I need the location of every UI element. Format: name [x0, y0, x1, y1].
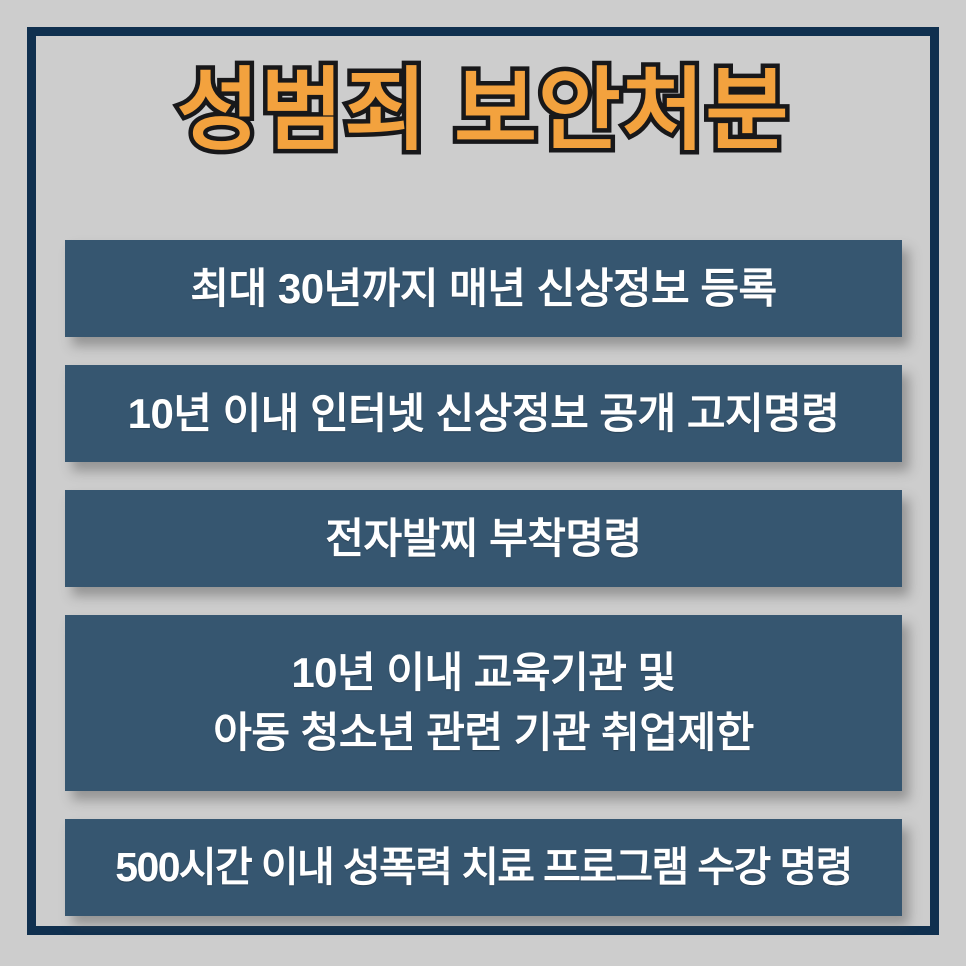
- measure-bar-5-label: 500시간 이내 성폭력 치료 프로그램 수강 명령: [109, 841, 857, 893]
- measure-bar-2: 10년 이내 인터넷 신상정보 공개 고지명령: [65, 365, 902, 462]
- measures-list: 최대 30년까지 매년 신상정보 등록 10년 이내 인터넷 신상정보 공개 고…: [65, 240, 902, 916]
- measure-bar-3-label: 전자발찌 부착명령: [311, 512, 655, 566]
- poster-canvas: 성범죄 보안처분 최대 30년까지 매년 신상정보 등록 10년 이내 인터넷 …: [0, 0, 966, 966]
- measure-bar-5: 500시간 이내 성폭력 치료 프로그램 수강 명령: [65, 819, 902, 916]
- measure-bar-4: 10년 이내 교육기관 및 아동 청소년 관련 기관 취업제한: [65, 615, 902, 791]
- measure-bar-2-label: 10년 이내 인터넷 신상정보 공개 고지명령: [114, 387, 854, 441]
- measure-bar-1: 최대 30년까지 매년 신상정보 등록: [65, 240, 902, 337]
- page-title: 성범죄 보안처분: [0, 64, 966, 159]
- measure-bar-1-label: 최대 30년까지 매년 신상정보 등록: [176, 262, 790, 316]
- page-title-text: 성범죄 보안처분: [177, 64, 790, 159]
- measure-bar-3: 전자발찌 부착명령: [65, 490, 902, 587]
- measure-bar-4-label: 10년 이내 교육기관 및 아동 청소년 관련 기관 취업제한: [199, 643, 768, 762]
